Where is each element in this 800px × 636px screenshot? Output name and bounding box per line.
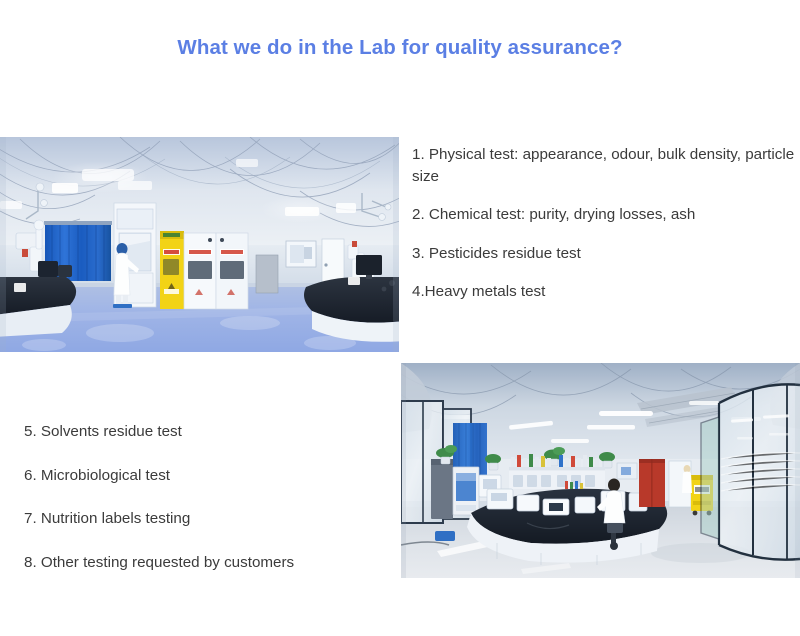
lab-cleanroom-illustration (0, 137, 399, 352)
list-item: 5. Solvents residue test (24, 421, 396, 443)
list-item: 4.Heavy metals test (412, 281, 800, 303)
list-item: 3. Pesticides residue test (412, 243, 800, 265)
lab-panorama-photo-2 (401, 363, 800, 578)
list-item: 6. Microbiological test (24, 465, 396, 487)
lab-panorama-photo-1 (0, 137, 399, 352)
list-item: 2. Chemical test: purity, drying losses,… (412, 204, 800, 226)
list-item: 1. Physical test: appearance, odour, bul… (412, 144, 800, 187)
page-title: What we do in the Lab for quality assura… (0, 36, 800, 60)
list-item: 7. Nutrition labels testing (24, 508, 396, 530)
list-item: 8. Other testing requested by customers (24, 552, 396, 574)
test-list-right: 1. Physical test: appearance, odour, bul… (412, 144, 800, 320)
analytical-lab-illustration (401, 363, 800, 578)
test-list-left: 5. Solvents residue test 6. Microbiologi… (24, 421, 396, 595)
